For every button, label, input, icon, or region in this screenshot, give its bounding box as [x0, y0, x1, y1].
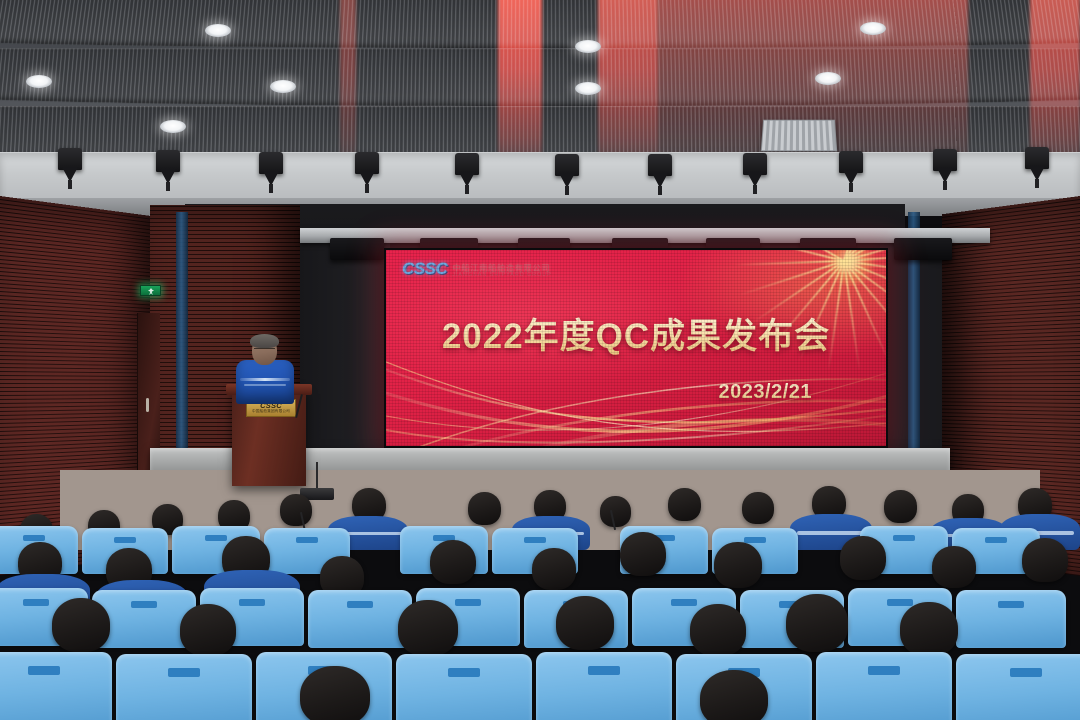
audience-head: [532, 548, 576, 590]
downlight-icon: [26, 75, 52, 88]
presenter-glasses-icon: [254, 348, 275, 353]
audience-head: [600, 496, 631, 527]
audience-head: [742, 492, 774, 524]
ceiling-red-light-channel: [598, 0, 658, 160]
downlight-icon: [205, 24, 231, 37]
audience-head: [786, 594, 848, 652]
audience-head: [700, 670, 768, 720]
presenter-reflective-stripe: [240, 378, 290, 381]
stage-spotlight-icon: [452, 153, 482, 193]
audience-head: [1022, 538, 1068, 582]
truss-fixture: [894, 238, 952, 260]
ceiling-red-light-channel: [1030, 0, 1080, 160]
downlight-icon: [270, 80, 296, 93]
presenter: [236, 336, 294, 398]
stage-spotlight-icon: [740, 153, 770, 193]
stage-spotlight-icon: [256, 152, 286, 192]
emergency-exit-sign-icon: [140, 285, 161, 296]
ceiling-red-light-channel: [498, 0, 542, 160]
cssc-wordmark: CSSC: [402, 259, 447, 279]
presenter-reflective-stripe: [244, 384, 286, 386]
audience-head: [668, 488, 701, 521]
stage-spotlight-icon: [1022, 147, 1052, 187]
audience-head: [52, 598, 110, 652]
downlight-icon: [575, 82, 601, 95]
audience-head: [300, 666, 370, 720]
ceiling-red-light-channel: [340, 0, 356, 160]
audience-head: [900, 602, 958, 656]
audience-head: [398, 600, 458, 656]
truss-fixture: [330, 238, 384, 260]
stage-spotlight-icon: [552, 154, 582, 194]
audience-area: [0, 470, 1080, 720]
podium-subtitle: 中国船舶集团有限公司: [252, 410, 290, 414]
auditorium-seat[interactable]: [116, 654, 252, 720]
cssc-logo: CSSC 中船江南船舶造有限公司 JIANGNAN SHIPYARD GROUP: [402, 259, 552, 279]
audience-head: [932, 546, 976, 588]
downlight-icon: [160, 120, 186, 133]
auditorium-seat[interactable]: [308, 590, 412, 648]
audience-head: [430, 540, 476, 584]
audience-head: [620, 532, 666, 576]
auditorium-seat[interactable]: [536, 652, 672, 720]
led-screen-content: CSSC 中船江南船舶造有限公司 JIANGNAN SHIPYARD GROUP…: [386, 250, 886, 446]
audience-head: [556, 596, 614, 650]
auditorium-seat[interactable]: [956, 654, 1080, 720]
audience-head: [468, 492, 501, 525]
stage-spotlight-icon: [645, 154, 675, 194]
presenter-hair: [250, 334, 279, 348]
stage-spotlight-icon: [153, 150, 183, 190]
hvac-diffuser-icon: [761, 120, 837, 152]
stage-spotlight-icon: [352, 152, 382, 192]
downlight-icon: [815, 72, 841, 85]
stage-spotlight-icon: [836, 151, 866, 191]
audience-head: [180, 604, 236, 656]
ceiling: [0, 0, 1080, 160]
auditorium-seat[interactable]: [956, 590, 1066, 648]
conference-photo-scene: CSSC 中船江南船舶造有限公司 JIANGNAN SHIPYARD GROUP…: [0, 0, 1080, 720]
auditorium-seat[interactable]: [396, 654, 532, 720]
downlight-icon: [860, 22, 886, 35]
event-date: 2023/2/21: [719, 381, 812, 404]
presenter-uniform: [236, 360, 294, 404]
audience-head: [714, 542, 762, 588]
audience-head: [840, 536, 886, 580]
led-video-wall: CSSC 中船江南船舶造有限公司 JIANGNAN SHIPYARD GROUP…: [384, 248, 888, 448]
audience-head: [280, 494, 312, 526]
stage-spotlight-icon: [930, 149, 960, 189]
auditorium-seat[interactable]: [816, 652, 952, 720]
event-title: 2022年度QC成果发布会: [386, 308, 886, 359]
audience-head: [884, 490, 917, 523]
door-handle[interactable]: [146, 398, 149, 412]
auditorium-seat[interactable]: [0, 652, 112, 720]
downlight-icon: [575, 40, 601, 53]
company-name-en: JIANGNAN SHIPYARD GROUP: [452, 273, 551, 279]
audience-head: [690, 604, 746, 656]
cssc-company-name: 中船江南船舶造有限公司 JIANGNAN SHIPYARD GROUP: [452, 264, 551, 279]
stage-spotlight-icon: [55, 148, 85, 188]
